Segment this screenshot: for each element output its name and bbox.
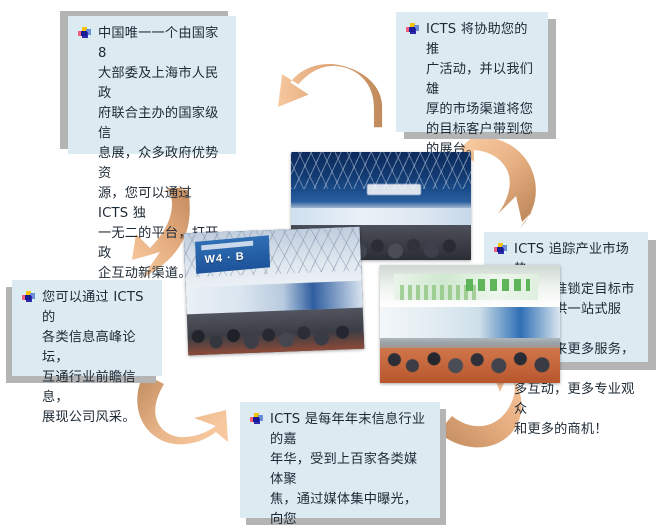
photo-w4b-hall: W4 · B [184, 227, 365, 356]
callout-forum[interactable]: 您可以通过 ICTS 的 各类信息高峰论坛， 互通行业前瞻信息， 展现公司风采。 [12, 280, 162, 376]
callout-promotion-text: ICTS 将协助您的推 广活动，并以我们雄 厚的市场渠道将您 的目标客户带到您 … [426, 20, 538, 160]
photo-telecom-truss [291, 152, 471, 189]
photo-smart-crowd [380, 333, 560, 375]
four-color-diamond-icon [250, 413, 263, 426]
infographic-canvas: W4 · B 中国唯一一个由国家 8 大部委及上海市人民政 府联合主办的国家级信… [0, 0, 657, 529]
arrow-top-left-icon [272, 58, 404, 150]
photo-smart-banner [394, 274, 538, 300]
photo-w4b-sign-code: W4 · B [204, 250, 245, 266]
four-color-diamond-icon [78, 27, 91, 40]
photo-smart-city-booth [380, 265, 560, 383]
callout-media-text: ICTS 是每年年末信息行业的嘉 年华，受到上百家各类媒体聚 焦，通过媒体集中曝… [270, 410, 430, 529]
photo-smart-banner-text [466, 279, 529, 291]
four-color-diamond-icon [22, 291, 35, 304]
photo-telecom-logo [367, 184, 421, 195]
callout-government[interactable]: 中国唯一一个由国家 8 大部委及上海市人民政 府联合主办的国家级信 息展，众多政… [68, 16, 236, 154]
callout-media[interactable]: ICTS 是每年年末信息行业的嘉 年华，受到上百家各类媒体聚 焦，通过媒体集中曝… [240, 402, 440, 518]
four-color-diamond-icon [494, 243, 507, 256]
four-color-diamond-icon [406, 23, 419, 36]
callout-promotion[interactable]: ICTS 将协助您的推 广活动，并以我们雄 厚的市场渠道将您 的目标客户带到您 … [396, 12, 548, 132]
callout-forum-text: 您可以通过 ICTS 的 各类信息高峰论坛， 互通行业前瞻信息， 展现公司风采。 [42, 288, 152, 428]
photo-w4b-crowd [187, 307, 364, 355]
photo-w4b-sign-caption [201, 241, 253, 251]
